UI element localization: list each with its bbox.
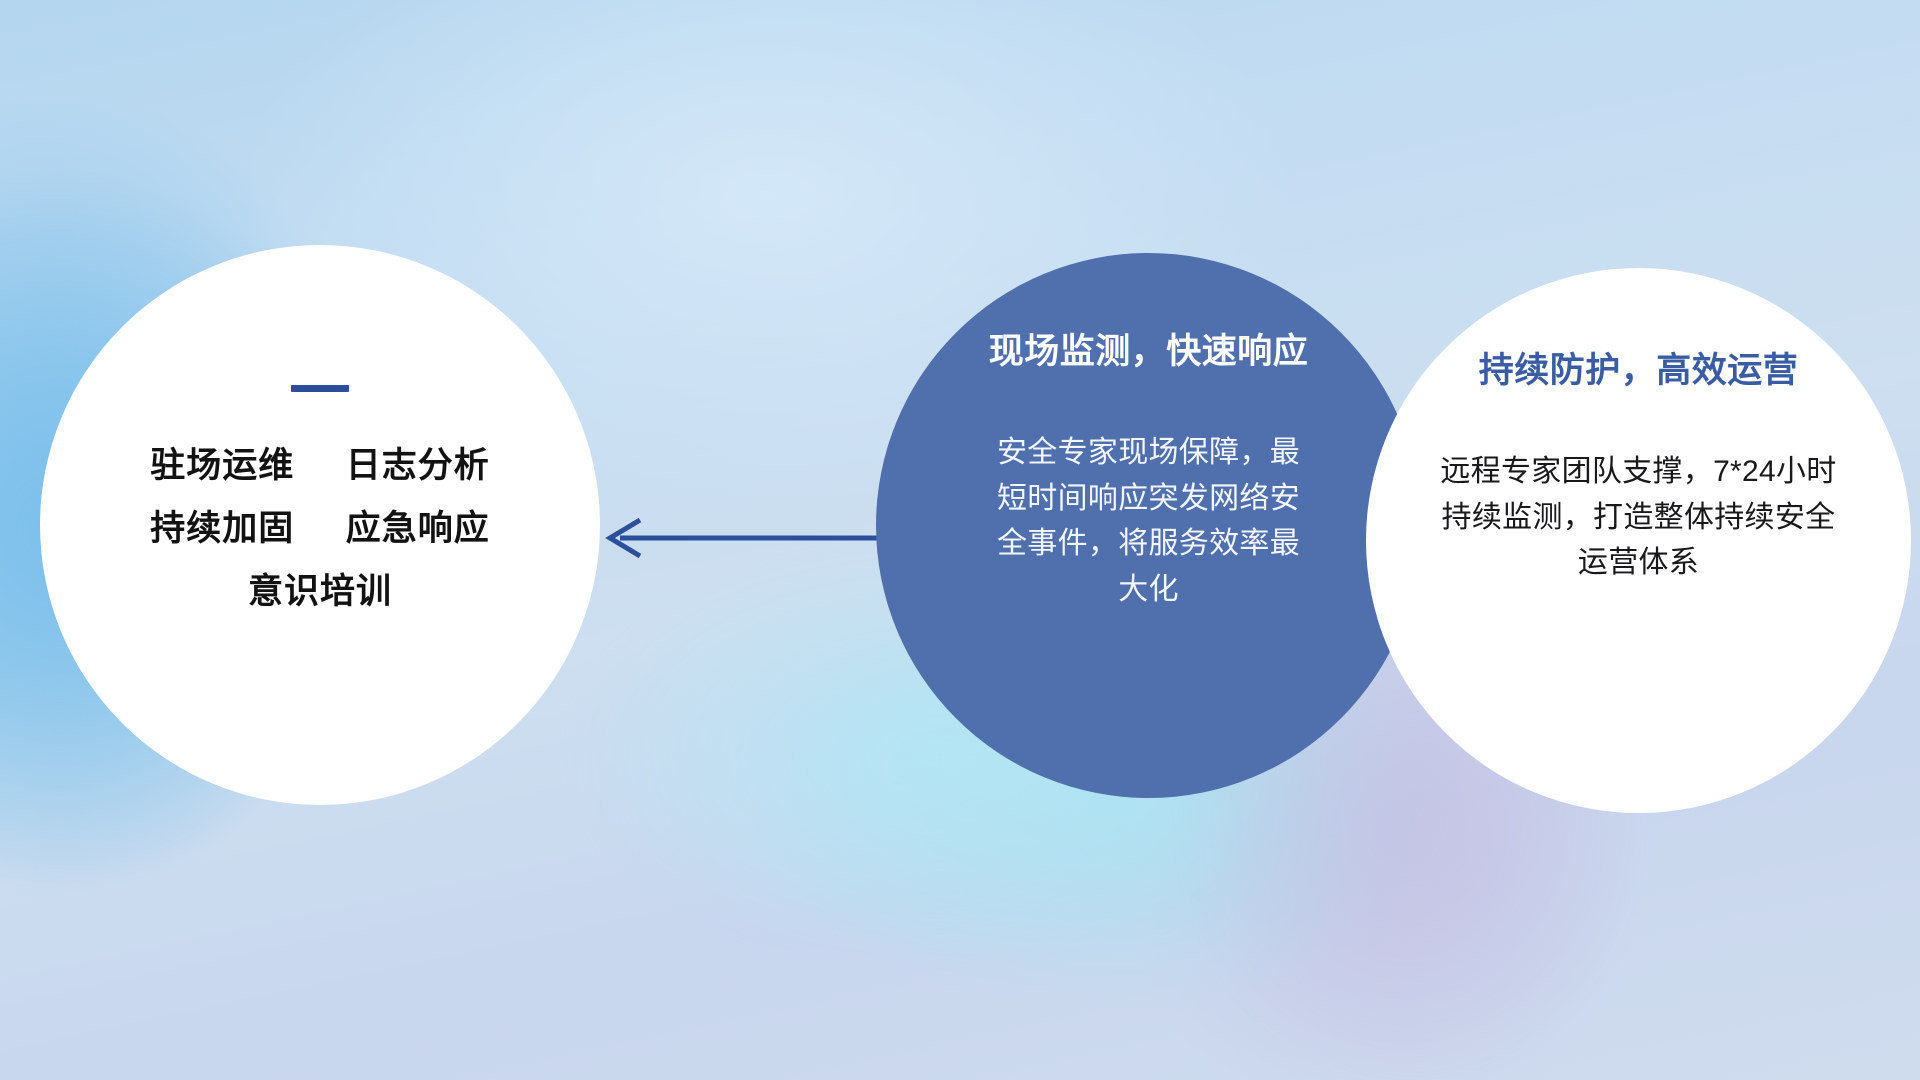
capability-list: 驻场运维 日志分析 持续加固 应急响应 意识培训 — [150, 448, 490, 610]
flow-arrow-left-icon — [596, 506, 886, 570]
list-item: 持续加固 应急响应 — [150, 511, 490, 548]
horizontal-dash-icon — [291, 385, 349, 392]
capability-card-right[interactable]: 持续防护，高效运营 远程专家团队支撑，7*24小时持续监测，打造整体持续安全运营… — [1366, 268, 1911, 813]
capability-card-left-content: 驻场运维 日志分析 持续加固 应急响应 意识培训 — [40, 245, 600, 805]
capability-label: 驻场运维 — [150, 446, 294, 485]
list-item: 驻场运维 日志分析 — [150, 448, 490, 485]
card-title: 现场监测，快速响应 — [989, 323, 1309, 374]
capability-card-center-content: 现场监测，快速响应 安全专家现场保障，最短时间响应突发网络安全事件，将服务效率最… — [876, 253, 1421, 798]
capability-label: 应急响应 — [346, 509, 490, 548]
capability-card-right-content: 持续防护，高效运营 远程专家团队支撑，7*24小时持续监测，打造整体持续安全运营… — [1366, 268, 1911, 813]
capability-label: 意识培训 — [248, 572, 392, 611]
card-body-text: 远程专家团队支撑，7*24小时持续监测，打造整体持续安全运营体系 — [1429, 449, 1849, 586]
list-item: 意识培训 — [248, 574, 392, 611]
capability-card-center[interactable]: 现场监测，快速响应 安全专家现场保障，最短时间响应突发网络安全事件，将服务效率最… — [876, 253, 1421, 798]
slide-canvas: 驻场运维 日志分析 持续加固 应急响应 意识培训 现场监测，快速响应 安全专家现… — [0, 0, 1920, 1080]
card-title: 持续防护，高效运营 — [1479, 342, 1799, 393]
arrow-left-icon — [596, 506, 886, 570]
capability-label: 持续加固 — [150, 509, 294, 548]
card-body-text: 安全专家现场保障，最短时间响应突发网络安全事件，将服务效率最大化 — [984, 430, 1314, 612]
capability-card-left[interactable]: 驻场运维 日志分析 持续加固 应急响应 意识培训 — [40, 245, 600, 805]
capability-label: 日志分析 — [346, 446, 490, 485]
